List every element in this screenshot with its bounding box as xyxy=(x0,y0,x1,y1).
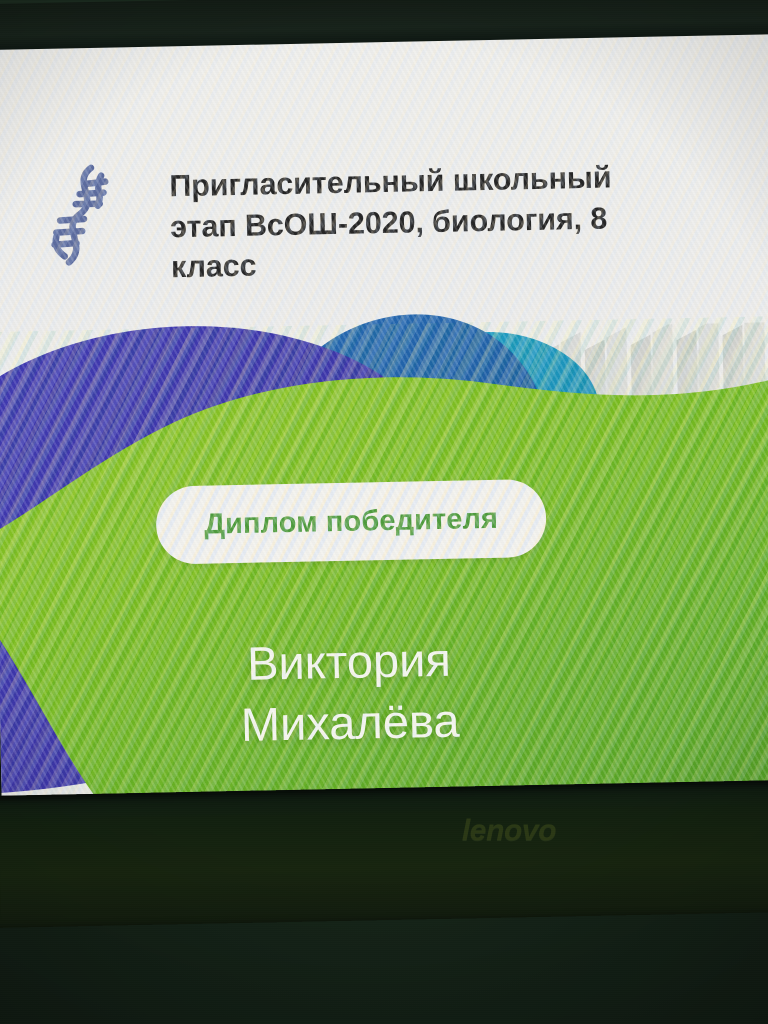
photo-of-laptop-screen: Пригласительный школьный этап ВсОШ-2020,… xyxy=(0,0,768,1024)
lenovo-wordmark-icon: lenovo xyxy=(424,812,594,850)
award-badge: Диплом победителя xyxy=(155,479,546,565)
recipient-name: Виктория Михалёва xyxy=(88,626,610,759)
award-badge-label: Диплом победителя xyxy=(204,502,498,541)
recipient-last-name: Михалёва xyxy=(90,687,611,759)
dna-helix-icon xyxy=(45,161,119,270)
certificate-header: Пригласительный школьный этап ВсОШ-2020,… xyxy=(0,26,768,312)
certificate-title: Пригласительный школьный этап ВсОШ-2020,… xyxy=(169,156,691,288)
certificate-page: Пригласительный школьный этап ВсОШ-2020,… xyxy=(0,26,768,802)
laptop-screen: Пригласительный школьный этап ВсОШ-2020,… xyxy=(0,26,768,802)
screen-bezel-bottom xyxy=(0,780,768,928)
recipient-first-name: Виктория xyxy=(88,626,609,698)
